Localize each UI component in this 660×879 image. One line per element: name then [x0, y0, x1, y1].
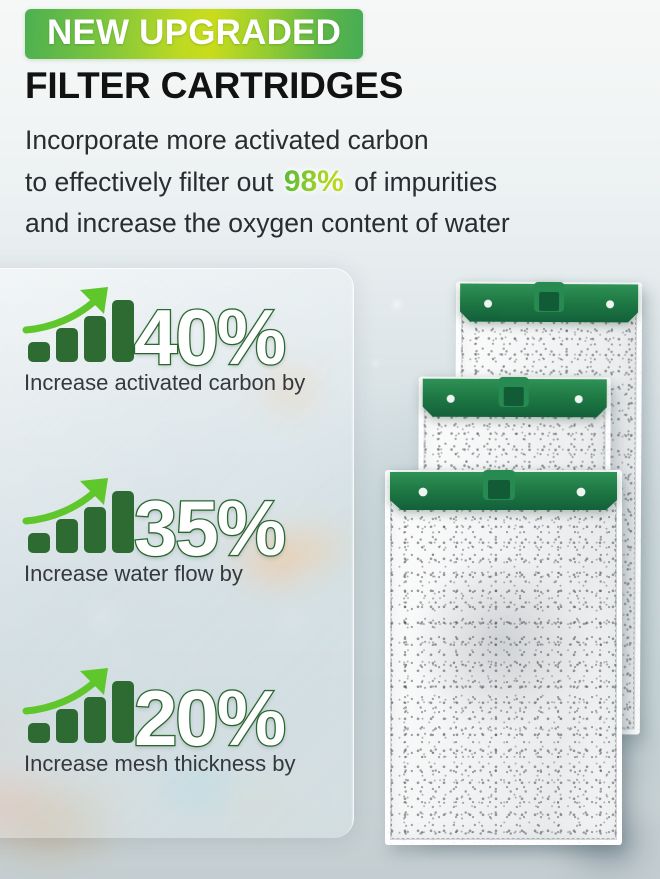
- green-clip-front: [385, 470, 622, 512]
- new-upgraded-badge: NEW UPGRADED: [25, 9, 363, 59]
- product-infographic-poster: NEW UPGRADED FILTER CARTRIDGES Incorpora…: [0, 0, 660, 879]
- lede-line-1: Incorporate more activated carbon: [25, 120, 635, 161]
- stat-label: Increase activated carbon by: [24, 370, 305, 396]
- stat-label: Increase mesh thickness by: [24, 751, 295, 777]
- green-clip-back: [456, 282, 642, 325]
- lede-line-3: and increase the oxygen content of water: [25, 203, 635, 244]
- stat-value: 20%: [134, 679, 284, 757]
- filter-cartridge-front: [385, 470, 622, 845]
- stat-value: 40%: [134, 298, 284, 376]
- page-title: FILTER CARTRIDGES: [25, 66, 403, 105]
- stat-value: 35%: [134, 489, 284, 567]
- stat-block-activated-carbon: 40% Increase activated carbon by: [22, 286, 352, 368]
- badge-label: NEW UPGRADED: [47, 14, 341, 51]
- lede-line-2-before: to effectively filter out: [25, 167, 273, 197]
- filter-cartridge-shadow-front: [385, 470, 622, 845]
- stat-block-water-flow: 35% Increase water flow by: [22, 477, 352, 559]
- stat-row: 40%: [22, 286, 352, 368]
- lede-line-2-after: of impurities: [354, 167, 497, 197]
- growth-bars-arrow-icon: [22, 284, 144, 364]
- lede-line-2: to effectively filter out 98% of impurit…: [25, 161, 635, 203]
- stat-row: 35%: [22, 477, 352, 559]
- green-clip-middle: [419, 377, 611, 420]
- stat-row: 20%: [22, 667, 352, 749]
- lede-paragraph: Incorporate more activated carbon to eff…: [25, 120, 635, 244]
- stat-label: Increase water flow by: [24, 561, 243, 587]
- stat-block-mesh-thickness: 20% Increase mesh thickness by: [22, 667, 352, 749]
- growth-bars-arrow-icon: [22, 665, 144, 745]
- growth-bars-arrow-icon: [22, 475, 144, 555]
- impurity-percentage-highlight: 98%: [281, 165, 347, 198]
